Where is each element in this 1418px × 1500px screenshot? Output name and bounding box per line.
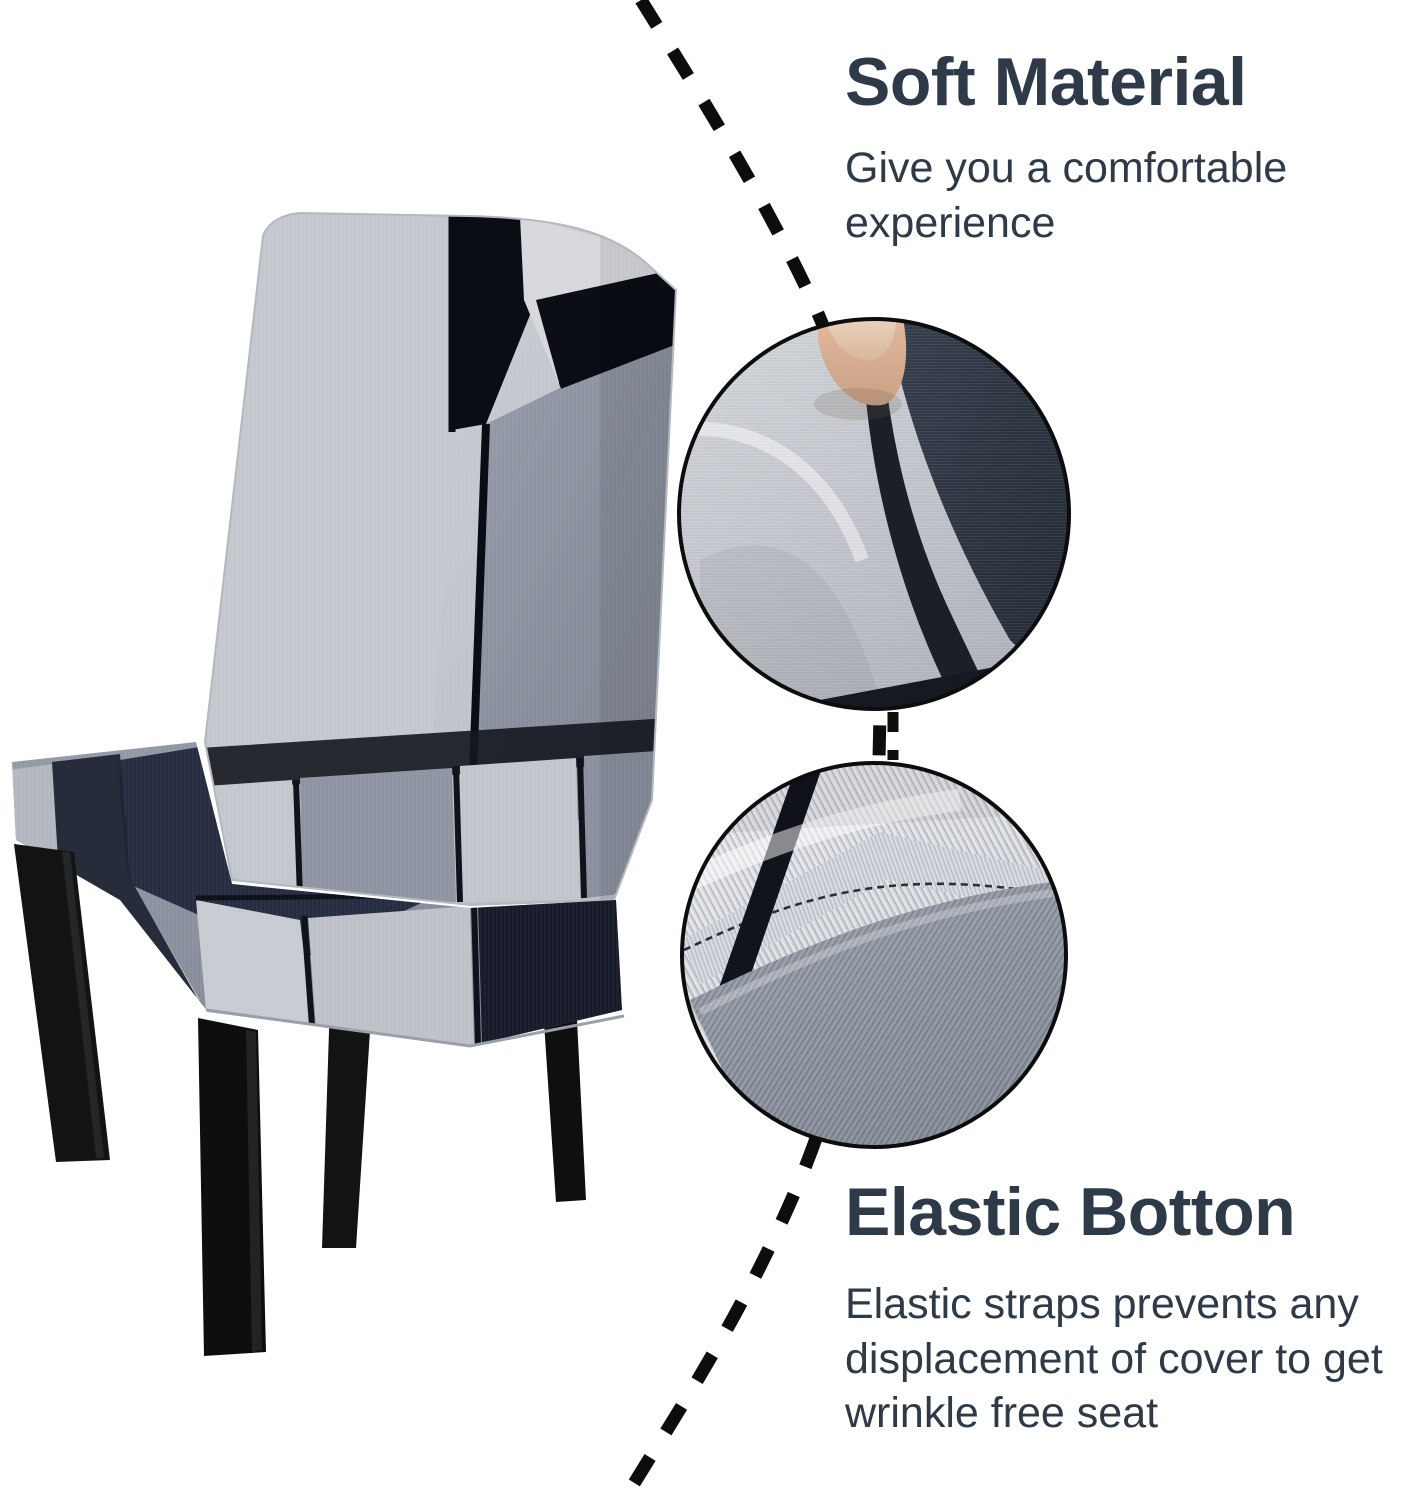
infographic-canvas: Soft Material Give you a comfortable exp… xyxy=(0,0,1418,1500)
soft-material-photo-callout xyxy=(670,300,1080,720)
elastic-botton-photo-callout xyxy=(676,756,1076,1156)
soft-material-title: Soft Material xyxy=(845,48,1405,117)
dashed-guide-curve xyxy=(624,0,880,1500)
elastic-botton-text-block: Elastic Botton Elastic straps prevents a… xyxy=(845,1178,1415,1440)
chair-back-panel xyxy=(180,200,704,940)
elastic-botton-body: Elastic straps prevents any displacement… xyxy=(845,1277,1415,1440)
elastic-botton-title: Elastic Botton xyxy=(845,1178,1415,1247)
soft-material-text-block: Soft Material Give you a comfortable exp… xyxy=(845,48,1405,250)
product-chair-image xyxy=(0,200,704,1356)
soft-material-body: Give you a comfortable experience xyxy=(845,141,1405,249)
